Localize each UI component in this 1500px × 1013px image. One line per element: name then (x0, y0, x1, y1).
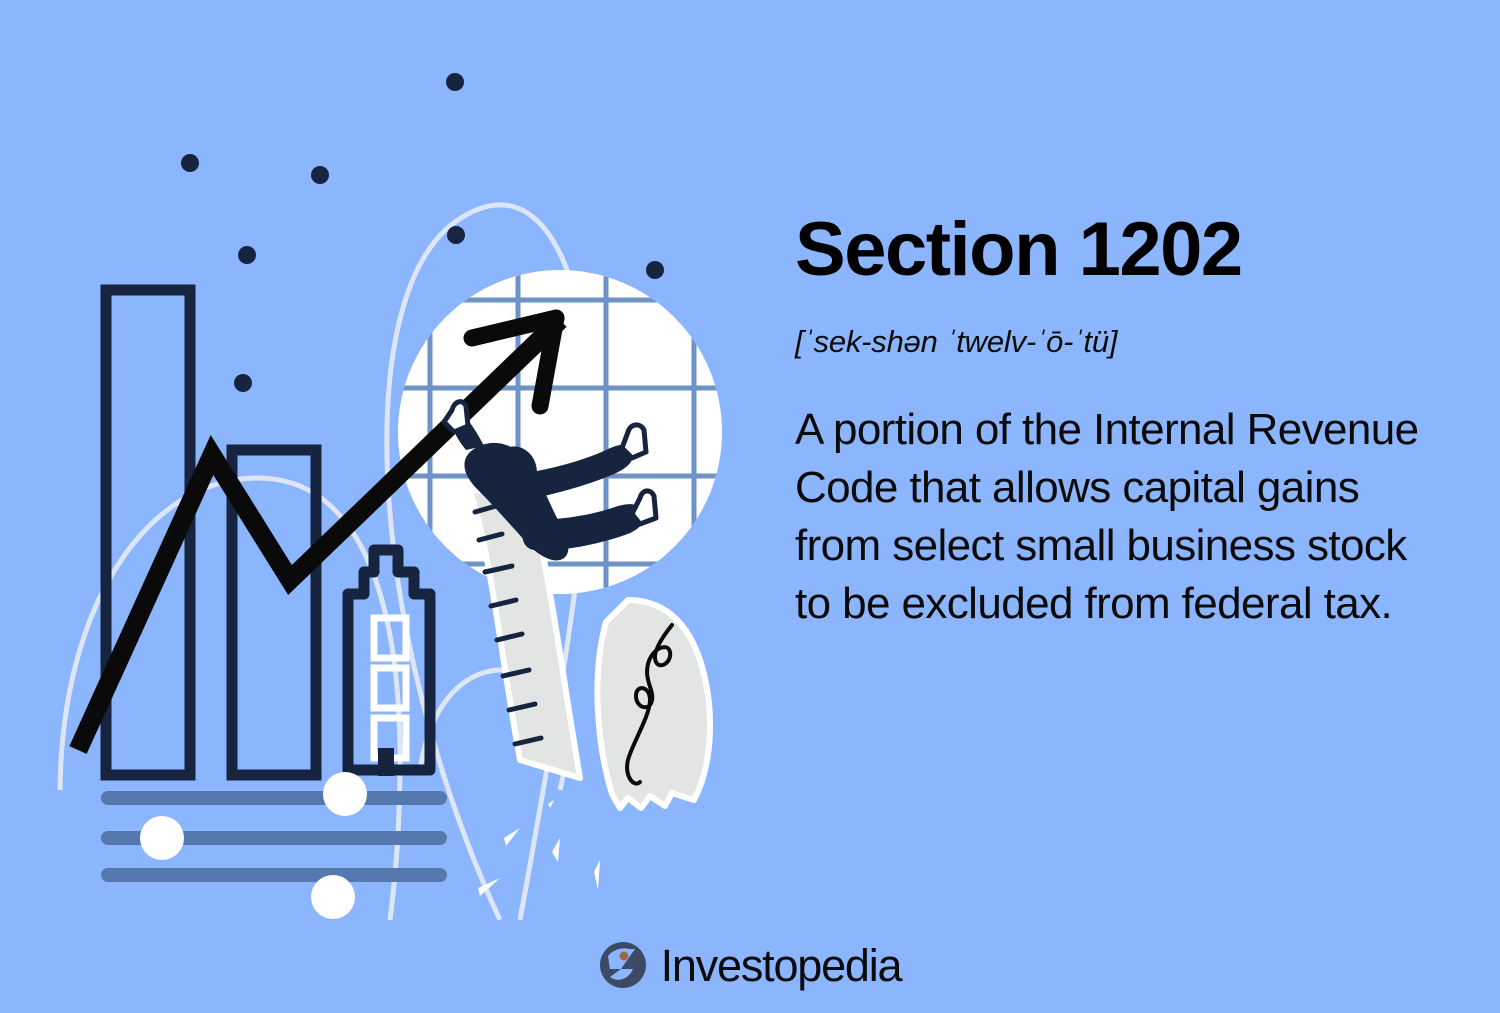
slider-handle-3 (311, 875, 355, 919)
building-door (378, 748, 394, 776)
investopedia-logo-icon (599, 941, 647, 989)
office-building (348, 550, 430, 776)
infographic-canvas: Section 1202 [ˈsek-shən ˈtwelv-ˈō-ˈtü] A… (0, 0, 1500, 1013)
bar-outline-group (106, 290, 316, 775)
page-title: Section 1202 (795, 212, 1455, 288)
definition-text-column: Section 1202 [ˈsek-shən ˈtwelv-ˈō-ˈtü] A… (795, 212, 1455, 633)
slider-handle-2 (140, 816, 184, 860)
pronunciation-text: [ˈsek-shən ˈtwelv-ˈō-ˈtü] (795, 326, 1455, 357)
brand-footer: Investopedia (0, 941, 1500, 989)
definition-text: A portion of the Internal Revenue Code t… (795, 401, 1450, 633)
slider-handle-1 (323, 772, 367, 816)
illustration-panel (0, 0, 780, 920)
brand-name: Investopedia (661, 943, 902, 988)
signature-ribbon (597, 600, 710, 808)
